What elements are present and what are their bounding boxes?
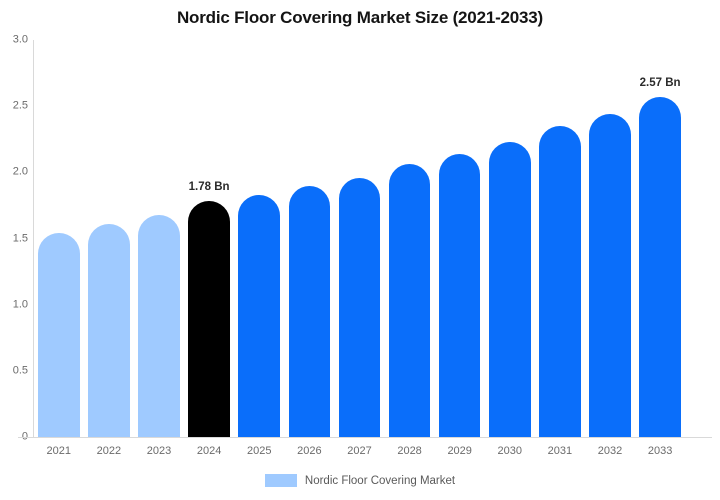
chart-title: Nordic Floor Covering Market Size (2021-… <box>0 8 720 28</box>
y-axis-tick-label: 2.5 <box>2 101 28 112</box>
bar-2026[interactable] <box>289 186 331 437</box>
x-axis-tick-label-2025: 2025 <box>238 445 280 457</box>
x-axis-tick-label-2031: 2031 <box>539 445 581 457</box>
bar-group <box>439 40 481 437</box>
bar-group <box>38 40 80 437</box>
x-axis-tick-label-2026: 2026 <box>289 445 331 457</box>
y-axis-tick-labels: 00.51.01.52.02.53.0 <box>0 0 28 500</box>
bar-2025[interactable] <box>238 195 280 437</box>
x-axis-tick-label-2024: 2024 <box>188 445 230 457</box>
x-axis-tick-label-2030: 2030 <box>489 445 531 457</box>
bar-group <box>489 40 531 437</box>
bar-group <box>289 40 331 437</box>
y-axis-tick-label: 0.5 <box>2 365 28 376</box>
x-axis-tick-label-2027: 2027 <box>339 445 381 457</box>
bar-chart: Nordic Floor Covering Market Size (2021-… <box>0 0 720 500</box>
bar-group <box>238 40 280 437</box>
x-axis-line <box>18 437 712 438</box>
x-axis-tick-label-2021: 2021 <box>38 445 80 457</box>
bar-group <box>539 40 581 437</box>
plot-area: 1.78 Bn2.57 Bn <box>33 40 712 437</box>
bar-group <box>339 40 381 437</box>
x-axis-tick-label-2023: 2023 <box>138 445 180 457</box>
bar-group <box>589 40 631 437</box>
bar-2030[interactable] <box>489 142 531 437</box>
x-axis-tick-label-2028: 2028 <box>389 445 431 457</box>
x-axis-tick-label-2032: 2032 <box>589 445 631 457</box>
bar-2033[interactable] <box>639 97 681 437</box>
bar-value-label-2024: 1.78 Bn <box>189 181 230 193</box>
y-axis-tick-label: 1.5 <box>2 233 28 244</box>
bar-group <box>88 40 130 437</box>
x-axis-tick-label-2029: 2029 <box>439 445 481 457</box>
chart-legend[interactable]: Nordic Floor Covering Market <box>0 474 720 487</box>
y-axis-tick-label: 1.0 <box>2 299 28 310</box>
bar-group: 2.57 Bn <box>639 40 681 437</box>
bar-2031[interactable] <box>539 126 581 437</box>
bar-2029[interactable] <box>439 154 481 437</box>
x-axis-tick-label-2033: 2033 <box>639 445 681 457</box>
bar-2022[interactable] <box>88 224 130 437</box>
x-axis-tick-label-2022: 2022 <box>88 445 130 457</box>
bar-2021[interactable] <box>38 233 80 437</box>
legend-swatch-nordic-floor-covering-market <box>265 474 297 487</box>
bar-2027[interactable] <box>339 178 381 437</box>
bar-2023[interactable] <box>138 215 180 437</box>
bar-group <box>389 40 431 437</box>
bar-group <box>138 40 180 437</box>
legend-label: Nordic Floor Covering Market <box>305 475 455 487</box>
bar-2028[interactable] <box>389 164 431 437</box>
bar-value-label-2033: 2.57 Bn <box>640 77 681 89</box>
bar-2024[interactable] <box>188 201 230 437</box>
bar-group: 1.78 Bn <box>188 40 230 437</box>
bar-2032[interactable] <box>589 114 631 437</box>
y-axis-tick-label: 3.0 <box>2 35 28 46</box>
y-axis-tick-label: 2.0 <box>2 167 28 178</box>
